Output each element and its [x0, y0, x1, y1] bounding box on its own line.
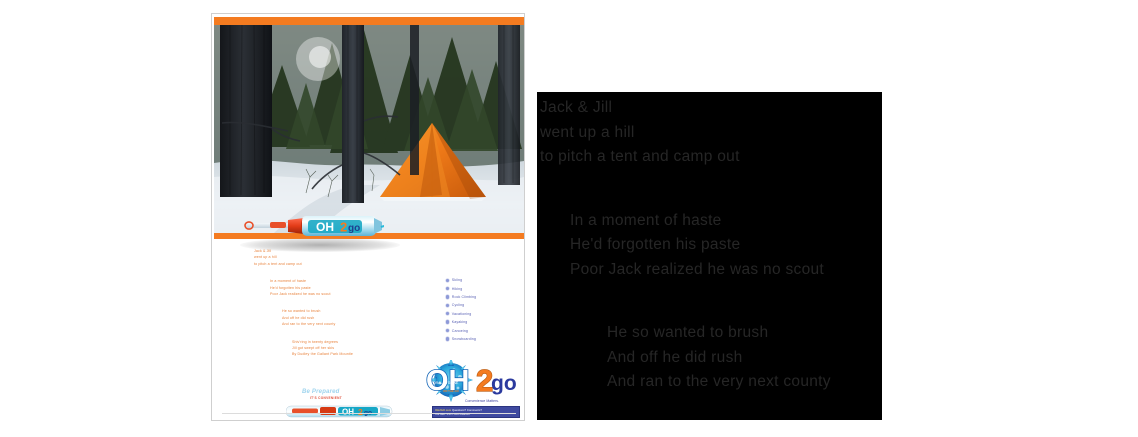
- activity-item: Skiing: [446, 276, 524, 284]
- svg-text:OH: OH: [342, 408, 354, 417]
- be-prepared-tube-artwork: OH 2 go: [286, 401, 394, 421]
- bullet-icon: [446, 312, 449, 315]
- be-prepared-block: Be Prepared IT'S CONVENIENT OH 2 go: [286, 389, 394, 423]
- svg-text:2: 2: [358, 407, 363, 417]
- contact-coupon-box[interactable]: OH2GO.com Questions? Comments? Toll free…: [432, 406, 520, 418]
- svg-text:OH: OH: [316, 220, 334, 234]
- activity-item: Vacationing: [446, 310, 524, 318]
- svg-text:go: go: [491, 372, 517, 395]
- oh2go-logo: OH ORAL HYGIENE ON THE GO 2 go: [421, 360, 519, 404]
- activity-label: Skiing: [452, 278, 462, 282]
- panel-poem-line: Poor Jack realized he was no scout: [570, 258, 882, 283]
- poster-poem-line: to pitch a tent and camp out: [254, 261, 419, 267]
- activities-list: Skiing Hiking Rock Climbing Cycling Vaca…: [446, 276, 524, 343]
- poster-top-orange-bar: [214, 17, 524, 25]
- svg-text:go: go: [348, 223, 360, 234]
- poster-poem: Jack & Jill went up a hill to pitch a te…: [254, 248, 419, 358]
- logo-burst-text: ORAL HYGIENE: [433, 381, 459, 385]
- activity-item: Rock Climbing: [446, 293, 524, 301]
- bullet-icon: [446, 279, 449, 282]
- activity-label: Snowboarding: [452, 337, 476, 341]
- poem-dark-panel: Jack & Jill went up a hill to pitch a te…: [537, 92, 882, 420]
- bullet-icon: [446, 337, 449, 340]
- panel-poem-line: And off he did rush: [607, 346, 882, 371]
- activity-label: Cycling: [452, 303, 464, 307]
- svg-text:2: 2: [340, 220, 347, 235]
- be-prepared-headline: Be Prepared: [302, 389, 340, 395]
- oh2go-logo-artwork: OH ORAL HYGIENE ON THE GO 2 go: [421, 360, 519, 404]
- panel-poem: Jack & Jill went up a hill to pitch a te…: [537, 92, 882, 420]
- panel-poem-line: He'd forgotten his paste: [570, 233, 882, 258]
- activity-item: Cycling: [446, 301, 524, 309]
- oh2go-poster: OH 2 go Jack & Jill went up a hill to pi…: [211, 13, 525, 421]
- panel-poem-line: to pitch a tent and camp out: [540, 145, 882, 170]
- bullet-icon: [446, 320, 449, 323]
- poster-poem-line: Poor Jack realized he was no scout: [270, 291, 419, 297]
- activity-item: Hiking: [446, 284, 524, 292]
- panel-poem-line: went up a hill: [540, 121, 882, 146]
- activity-label: Vacationing: [452, 312, 472, 316]
- activity-item: Snowboarding: [446, 335, 524, 343]
- activity-label: Hiking: [452, 287, 463, 291]
- activity-label: Rock Climbing: [452, 295, 476, 299]
- activity-item: Canoeing: [446, 326, 524, 334]
- oh2go-product-tube: OH 2 go: [244, 211, 384, 241]
- panel-poem-line: And ran to the very next county: [607, 370, 882, 395]
- poster-bottom-divider: [222, 413, 516, 414]
- bullet-icon: [446, 287, 449, 290]
- bullet-icon: [446, 304, 449, 307]
- bullet-icon: [446, 295, 449, 298]
- svg-text:ON THE GO: ON THE GO: [443, 389, 460, 393]
- be-prepared-product-tube: OH 2 go: [286, 401, 394, 421]
- bullet-icon: [446, 329, 449, 332]
- panel-poem-line: Jack & Jill: [540, 96, 882, 121]
- panel-poem-line: He so wanted to brush: [607, 321, 882, 346]
- campsite-photo-artwork: [214, 25, 524, 233]
- activity-item: Kayaking: [446, 318, 524, 326]
- poster-poem-line: By Dudley the Gallant Park Mountie: [292, 351, 419, 357]
- panel-poem-line: In a moment of haste: [570, 209, 882, 234]
- poster-poem-line: And ran to the very next county: [282, 321, 419, 327]
- activity-label: Canoeing: [452, 329, 468, 333]
- product-tube-artwork: OH 2 go: [244, 211, 384, 241]
- activity-label: Kayaking: [452, 320, 468, 324]
- campsite-photograph: [214, 25, 524, 233]
- be-prepared-subline: IT'S CONVENIENT: [310, 396, 342, 400]
- brand-tagline: Convenience Matters.: [442, 399, 522, 403]
